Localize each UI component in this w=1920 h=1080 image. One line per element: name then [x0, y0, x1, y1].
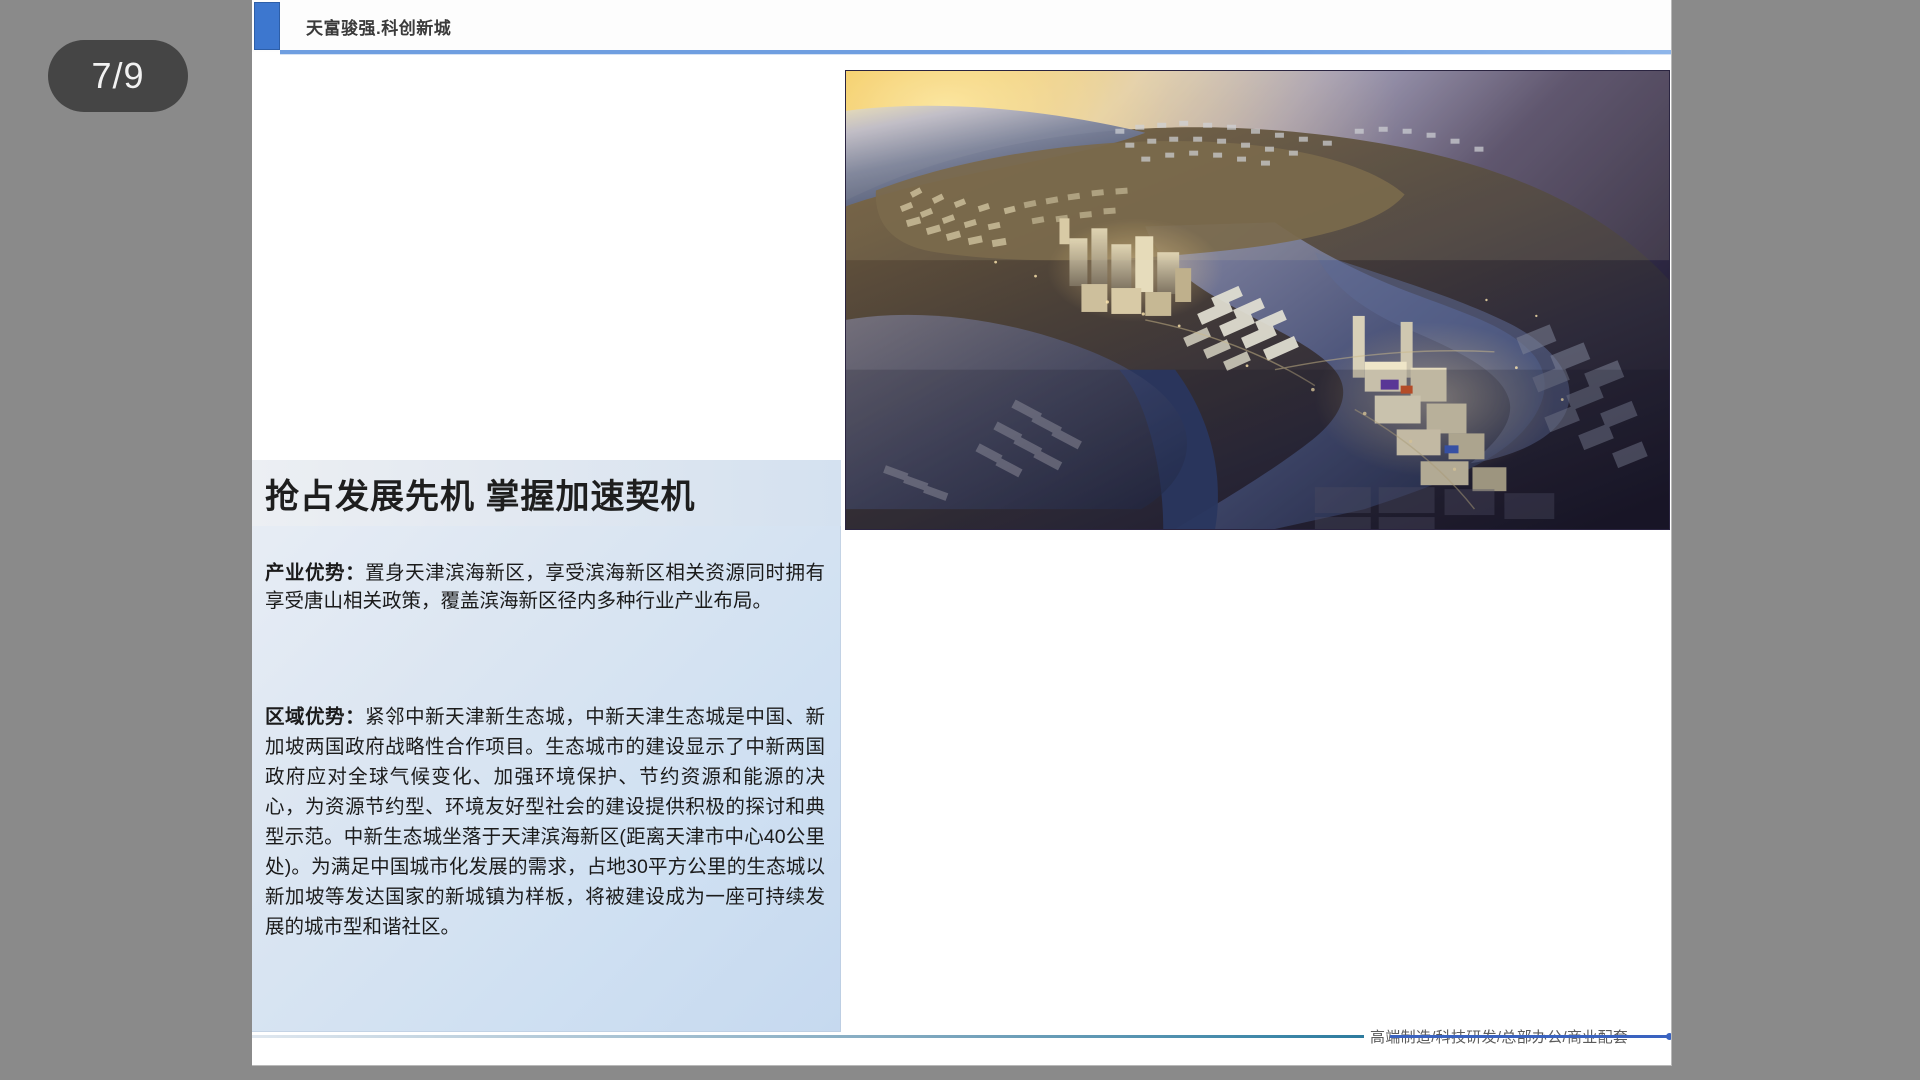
slide-footer: 高端制造/科技研发/总部办公/商业配套	[252, 1025, 1672, 1047]
header-divider-thin	[280, 54, 1672, 55]
content-title-band: 抢占发展先机 掌握加速契机	[252, 460, 841, 526]
slide-canvas: 天富骏强.科创新城	[252, 0, 1671, 1065]
footer-rule-left	[252, 1035, 1364, 1038]
page-title: 抢占发展先机 掌握加速契机	[265, 469, 695, 518]
paragraph-industry-label: 产业优势：	[265, 562, 365, 584]
page-counter-label: 7/9	[91, 55, 144, 97]
paragraph-industry-advantage: 产业优势：置身天津滨海新区，享受滨海新区相关资源同时拥有享受唐山相关政策，覆盖滨…	[265, 560, 825, 615]
slide-page: 天富骏强.科创新城	[252, 0, 1672, 1066]
content-text-panel: 抢占发展先机 掌握加速契机 产业优势：置身天津滨海新区，享受滨海新区相关资源同时…	[252, 460, 841, 1032]
paragraph-region-advantage: 区域优势：紧邻中新天津新生态城，中新天津生态城是中国、新加坡两国政府战略性合作项…	[265, 702, 825, 942]
page-counter-badge: 7/9	[48, 40, 188, 112]
footer-end-dot	[1666, 1033, 1672, 1040]
header-accent-bar	[254, 2, 280, 50]
aerial-city-photo	[845, 70, 1670, 530]
slide-header: 天富骏强.科创新城	[252, 0, 1672, 52]
footer-rule-right	[1390, 1035, 1672, 1038]
aerial-city-illustration	[846, 71, 1669, 529]
paragraph-region-label: 区域优势：	[265, 706, 365, 728]
header-title: 天富骏强.科创新城	[306, 0, 451, 52]
paragraph-region-body: 紧邻中新天津新生态城，中新天津生态城是中国、新加坡两国政府战略性合作项目。生态城…	[265, 706, 825, 938]
